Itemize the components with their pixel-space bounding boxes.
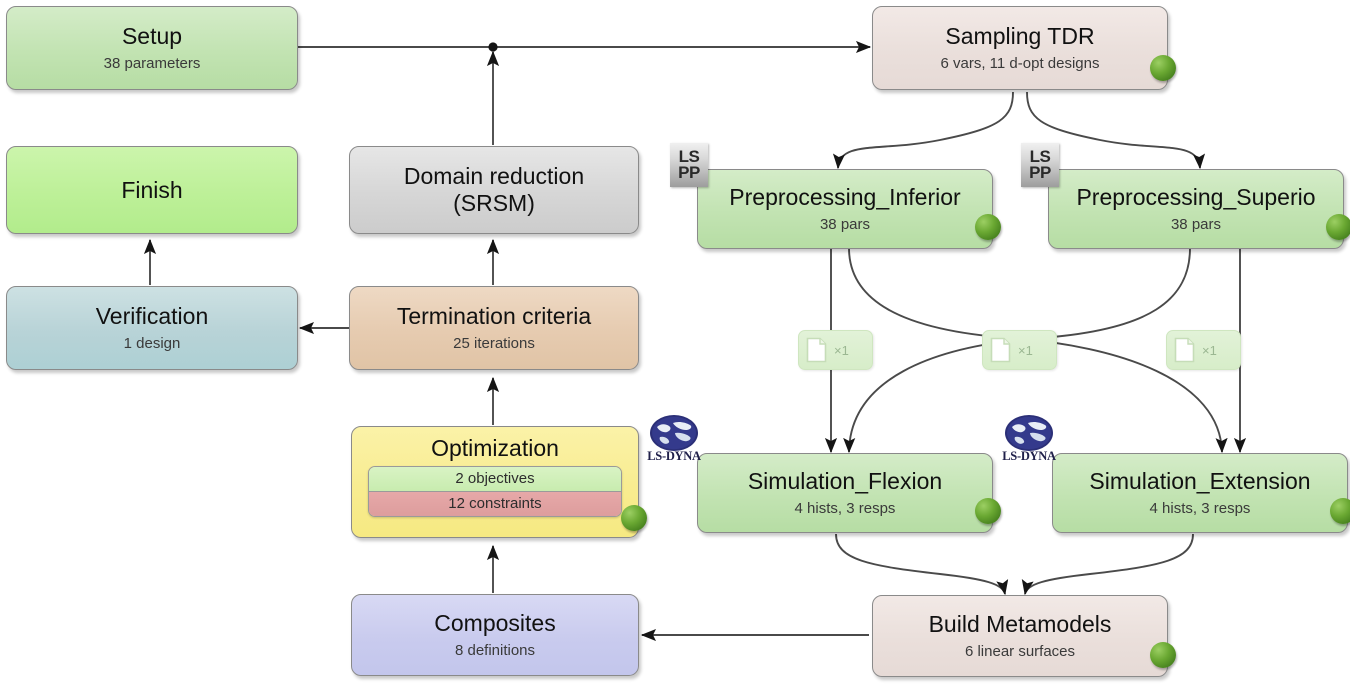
status-sphere-simulation-extension[interactable] — [1330, 498, 1350, 524]
node-verification[interactable]: Verification 1 design — [6, 286, 298, 370]
file-transfer-chip-right[interactable]: ×1 — [1166, 330, 1241, 370]
globe-icon — [1004, 414, 1054, 452]
file-transfer-count-label: ×1 — [1018, 343, 1033, 358]
status-sphere-optimization[interactable] — [621, 505, 647, 531]
file-transfer-count-label: ×1 — [834, 343, 849, 358]
status-sphere-preprocessing-inferior[interactable] — [975, 214, 1001, 240]
node-composites-subtitle: 8 definitions — [455, 642, 535, 659]
ls-prepost-icon: LS PP — [1021, 143, 1059, 187]
node-sampling-tdr[interactable]: Sampling TDR 6 vars, 11 d-opt designs — [872, 6, 1168, 90]
node-sampling-subtitle: 6 vars, 11 d-opt designs — [941, 55, 1100, 72]
node-simulation-flexion-subtitle: 4 hists, 3 resps — [795, 500, 896, 517]
node-build-metamodels-title: Build Metamodels — [929, 612, 1112, 636]
node-optimization[interactable]: Optimization 2 objectives 12 constraints — [351, 426, 639, 538]
node-domain-reduction-subtitle: (SRSM) — [453, 190, 535, 217]
wire-junction-dot — [488, 42, 497, 51]
optimization-constraints-row[interactable]: 12 constraints — [369, 491, 621, 516]
node-preprocessing-inferior-subtitle: 38 pars — [820, 216, 870, 233]
node-simulation-extension[interactable]: LS-DYNA Simulation_Extension 4 hists, 3 … — [1052, 453, 1348, 533]
document-icon — [990, 337, 1011, 363]
node-termination-criteria[interactable]: Termination criteria 25 iterations — [349, 286, 639, 370]
ls-dyna-label: LS-DYNA — [647, 449, 700, 464]
file-transfer-count-label: ×1 — [1202, 343, 1217, 358]
ls-dyna-label: LS-DYNA — [1002, 449, 1055, 464]
status-sphere-simulation-flexion[interactable] — [975, 498, 1001, 524]
process-flow-canvas[interactable]: Setup 38 parameters Finish Verification … — [0, 0, 1350, 685]
document-icon — [806, 337, 827, 363]
node-simulation-flexion[interactable]: LS-DYNA Simulation_Flexion 4 hists, 3 re… — [697, 453, 993, 533]
wire-sim-extension-to-metamodels — [1025, 534, 1193, 594]
node-preprocessing-superior-subtitle: 38 pars — [1171, 216, 1221, 233]
ls-dyna-icon: LS-DYNA — [636, 414, 712, 470]
node-setup-title: Setup — [122, 24, 182, 48]
wire-sampling-to-preprocessing-inferior — [838, 92, 1013, 168]
node-preprocessing-inferior-title: Preprocessing_Inferior — [729, 185, 960, 209]
status-sphere-sampling[interactable] — [1150, 55, 1176, 81]
node-simulation-extension-title: Simulation_Extension — [1089, 469, 1310, 493]
node-composites-title: Composites — [434, 611, 555, 635]
node-termination-title: Termination criteria — [397, 304, 591, 328]
node-build-metamodels-subtitle: 6 linear surfaces — [965, 643, 1075, 660]
node-preprocessing-superior[interactable]: LS PP Preprocessing_Superio 38 pars — [1048, 169, 1344, 249]
node-domain-reduction[interactable]: Domain reduction (SRSM) — [349, 146, 639, 234]
node-setup-subtitle: 38 parameters — [104, 55, 201, 72]
node-finish[interactable]: Finish — [6, 146, 298, 234]
optimization-definition-panel[interactable]: 2 objectives 12 constraints — [368, 466, 622, 517]
node-verification-subtitle: 1 design — [124, 335, 181, 352]
node-finish-title: Finish — [121, 178, 182, 202]
node-preprocessing-superior-title: Preprocessing_Superio — [1076, 185, 1315, 209]
ls-dyna-icon: LS-DYNA — [991, 414, 1067, 470]
node-simulation-flexion-title: Simulation_Flexion — [748, 469, 942, 493]
lspp-line-2: PP — [1029, 165, 1051, 181]
globe-icon — [649, 414, 699, 452]
file-transfer-chip-left[interactable]: ×1 — [798, 330, 873, 370]
node-optimization-title: Optimization — [431, 436, 559, 460]
wire-sim-flexion-to-metamodels — [836, 534, 1005, 594]
node-domain-reduction-title: Domain reduction — [404, 163, 584, 190]
ls-prepost-icon: LS PP — [670, 143, 708, 187]
status-sphere-build-metamodels[interactable] — [1150, 642, 1176, 668]
document-icon — [1174, 337, 1195, 363]
node-setup[interactable]: Setup 38 parameters — [6, 6, 298, 90]
node-simulation-extension-subtitle: 4 hists, 3 resps — [1150, 500, 1251, 517]
lspp-line-2: PP — [678, 165, 700, 181]
file-transfer-chip-center[interactable]: ×1 — [982, 330, 1057, 370]
node-verification-title: Verification — [96, 304, 209, 328]
node-sampling-title: Sampling TDR — [945, 24, 1094, 48]
optimization-objectives-row[interactable]: 2 objectives — [369, 467, 621, 491]
node-preprocessing-inferior[interactable]: LS PP Preprocessing_Inferior 38 pars — [697, 169, 993, 249]
node-build-metamodels[interactable]: Build Metamodels 6 linear surfaces — [872, 595, 1168, 677]
node-composites[interactable]: Composites 8 definitions — [351, 594, 639, 676]
node-termination-subtitle: 25 iterations — [453, 335, 535, 352]
status-sphere-preprocessing-superior[interactable] — [1326, 214, 1350, 240]
